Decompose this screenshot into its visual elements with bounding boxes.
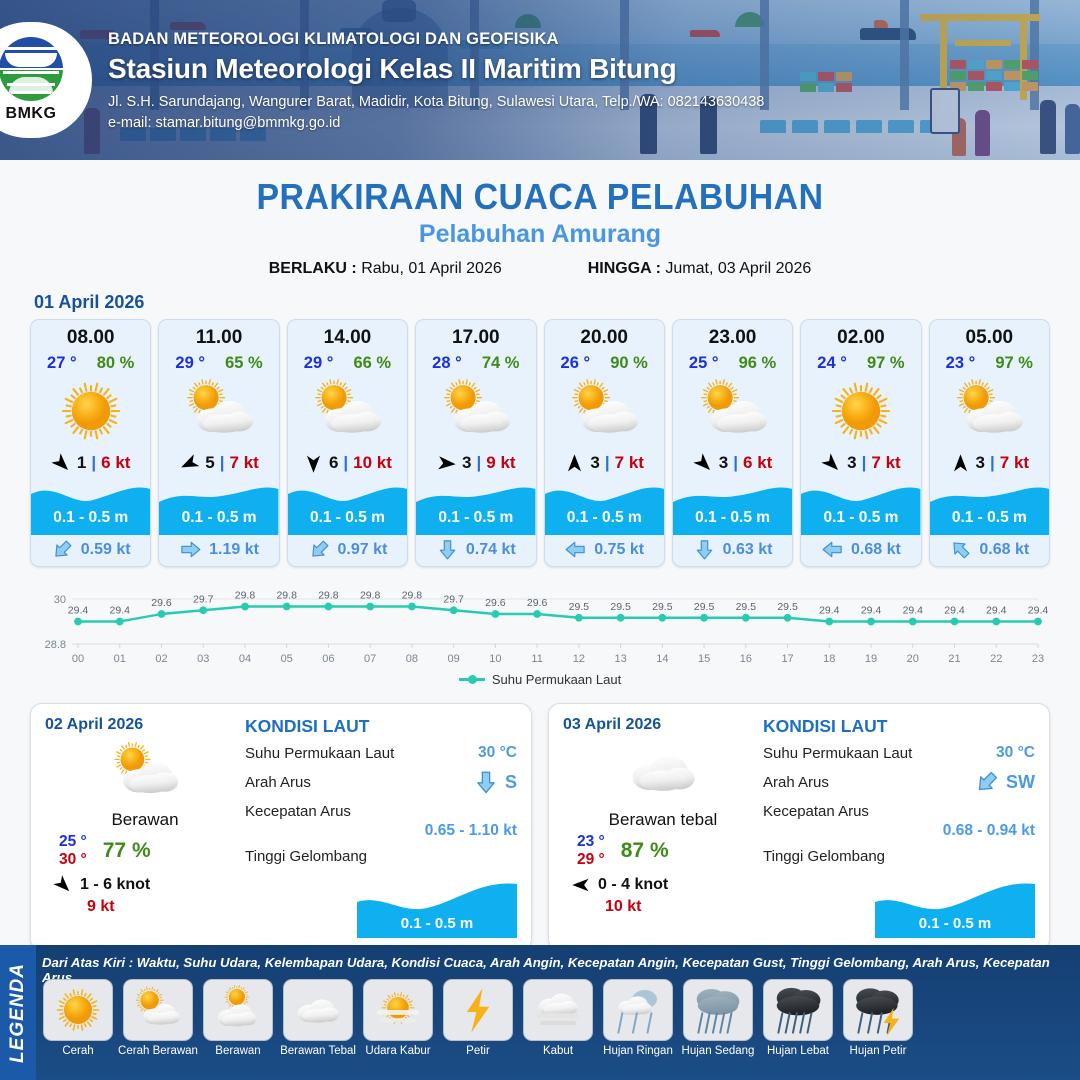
card-weather-icon xyxy=(416,373,535,449)
current-direction-label: Arah Arus xyxy=(245,774,311,791)
wave-height-label: Tinggi Gelombang xyxy=(245,848,517,865)
card-temperature: 28 ° xyxy=(432,354,462,373)
legend-item: Hujan Ringan xyxy=(600,979,676,1057)
card-current-speed: 0.68 kt xyxy=(851,541,901,559)
card-temp-humidity-row: 26 ° 90 % xyxy=(545,354,664,373)
card-temp-humidity-row: 23 ° 97 % xyxy=(930,354,1049,373)
card-wind-speed: 6 xyxy=(329,453,338,473)
wind-direction-arrow-icon xyxy=(950,453,971,474)
card-temp-humidity-row: 27 ° 80 % xyxy=(31,354,150,373)
legend-item-label: Hujan Sedang xyxy=(682,1045,755,1057)
svg-text:29.4: 29.4 xyxy=(944,605,965,617)
card-weather-icon xyxy=(673,373,792,449)
daily-wind-range: 1 - 6 knot xyxy=(80,876,150,894)
svg-text:18: 18 xyxy=(823,653,835,665)
card-time: 05.00 xyxy=(930,327,1049,349)
card-separator: | xyxy=(477,453,482,473)
sst-value: 30 °C xyxy=(996,744,1035,762)
daily-panel: 03 April 2026 Berawan tebal 23 ° 29 ° 87… xyxy=(548,703,1050,951)
card-gust-speed: 6 kt xyxy=(101,453,130,473)
hingga-group: HINGGA : Jumat, 03 April 2026 xyxy=(588,260,812,278)
card-current-speed: 1.19 kt xyxy=(209,541,259,559)
svg-text:29.5: 29.5 xyxy=(777,601,798,613)
daily-date: 03 April 2026 xyxy=(563,716,763,734)
daily-temp-row: 23 ° 29 ° 87 % xyxy=(563,833,763,869)
current-direction-arrow-icon xyxy=(436,538,459,561)
card-temp-humidity-row: 29 ° 65 % xyxy=(159,354,278,373)
card-wind-row: 1 | 6 kt xyxy=(31,449,150,478)
svg-text:29.7: 29.7 xyxy=(443,593,464,605)
card-separator: | xyxy=(862,453,867,473)
svg-text:29.8: 29.8 xyxy=(318,590,339,602)
sst-label: Suhu Permukaan Laut xyxy=(763,745,912,762)
card-gust-speed: 7 kt xyxy=(1000,453,1029,473)
svg-text:29.5: 29.5 xyxy=(694,601,715,613)
card-time: 23.00 xyxy=(673,327,792,349)
svg-text:29.5: 29.5 xyxy=(610,601,631,613)
legend-icon-box xyxy=(283,979,353,1041)
daily-panel-left: 03 April 2026 Berawan tebal 23 ° 29 ° 87… xyxy=(563,716,763,938)
current-direction-label: Arah Arus xyxy=(763,774,829,791)
page-header: BMKG BADAN METEOROLOGI KLIMATOLOGI DAN G… xyxy=(0,0,1080,160)
daily-temp-min: 23 ° xyxy=(577,833,605,851)
card-separator: | xyxy=(220,453,225,473)
daily-wind-row: 1 - 6 knot xyxy=(45,875,245,895)
card-temperature: 26 ° xyxy=(561,354,591,373)
card-temperature: 29 ° xyxy=(175,354,205,373)
card-current-row: 0.59 kt xyxy=(31,533,150,566)
svg-text:29.6: 29.6 xyxy=(151,597,172,609)
card-current-row: 0.68 kt xyxy=(930,533,1049,566)
card-current-row: 0.68 kt xyxy=(801,533,920,566)
card-temp-humidity-row: 25 ° 96 % xyxy=(673,354,792,373)
card-gust-speed: 6 kt xyxy=(743,453,772,473)
hourly-card: 14.00 29 ° 66 % 6 | 10 kt xyxy=(287,319,408,567)
card-time: 17.00 xyxy=(416,327,535,349)
wind-direction-arrow-icon xyxy=(436,453,457,474)
daily-humidity: 87 % xyxy=(621,839,669,863)
card-wave-height: 0.1 - 0.5 m xyxy=(930,509,1049,527)
card-wave-height: 0.1 - 0.5 m xyxy=(545,509,664,527)
sea-conditions-title: KONDISI LAUT xyxy=(245,716,517,737)
svg-text:03: 03 xyxy=(197,653,209,665)
legend-item-label: Berawan xyxy=(215,1045,260,1057)
svg-text:10: 10 xyxy=(489,653,501,665)
svg-text:29.4: 29.4 xyxy=(819,605,840,617)
hourly-forecast-cards: 08.00 27 ° 80 % 1 | 6 kt 0.1 xyxy=(0,319,1080,567)
svg-text:07: 07 xyxy=(364,653,376,665)
legend-icon-box xyxy=(683,979,753,1041)
legend-side-label: LEGENDA xyxy=(7,963,29,1063)
svg-text:01: 01 xyxy=(114,653,126,665)
svg-text:14: 14 xyxy=(656,653,668,665)
sst-row: Suhu Permukaan Laut 30 °C xyxy=(245,744,517,762)
card-current-row: 0.97 kt xyxy=(288,533,407,566)
legend-item: Hujan Lebat xyxy=(760,979,836,1057)
daily-gust: 9 kt xyxy=(45,898,245,916)
legend-item-label: Hujan Ringan xyxy=(603,1045,673,1057)
card-gust-speed: 7 kt xyxy=(615,453,644,473)
card-humidity: 97 % xyxy=(995,354,1033,373)
daily-date: 02 April 2026 xyxy=(45,716,245,734)
svg-text:17: 17 xyxy=(781,653,793,665)
card-time: 02.00 xyxy=(801,327,920,349)
card-wave-height: 0.1 - 0.5 m xyxy=(801,509,920,527)
daily-weather-icon xyxy=(563,736,763,808)
card-time: 11.00 xyxy=(159,327,278,349)
card-wave-block: 0.1 - 0.5 m xyxy=(545,480,664,533)
hourly-card: 17.00 28 ° 74 % 3 | 9 kt xyxy=(415,319,536,567)
legend-item: Berawan Tebal xyxy=(280,979,356,1057)
card-temperature: 24 ° xyxy=(817,354,847,373)
legend-icon-box xyxy=(843,979,913,1041)
card-temperature: 25 ° xyxy=(689,354,719,373)
card-humidity: 74 % xyxy=(482,354,520,373)
current-direction-arrow-icon xyxy=(308,538,331,561)
svg-text:28.8: 28.8 xyxy=(45,639,66,651)
card-current-row: 0.74 kt xyxy=(416,533,535,566)
svg-text:29.4: 29.4 xyxy=(986,605,1007,617)
legend-item-label: Cerah xyxy=(62,1045,93,1057)
card-current-speed: 0.68 kt xyxy=(979,541,1029,559)
svg-text:20: 20 xyxy=(907,653,919,665)
current-direction-arrow-icon xyxy=(974,769,1000,795)
svg-text:29.8: 29.8 xyxy=(360,590,381,602)
current-speed-value: 0.68 - 0.94 kt xyxy=(763,822,1035,840)
svg-text:29.8: 29.8 xyxy=(276,590,297,602)
card-current-speed: 0.59 kt xyxy=(81,541,131,559)
daily-condition: Berawan tebal xyxy=(563,810,763,830)
card-wave-block: 0.1 - 0.5 m xyxy=(159,480,278,533)
svg-text:29.5: 29.5 xyxy=(652,601,673,613)
current-speed-label: Kecepatan Arus xyxy=(763,803,1035,820)
svg-text:15: 15 xyxy=(698,653,710,665)
card-wave-block: 0.1 - 0.5 m xyxy=(416,480,535,533)
daily-forecast-panels: 02 April 2026 Berawan 25 ° 30 ° 77 % xyxy=(0,703,1080,951)
hourly-card: 11.00 29 ° 65 % 5 | 7 kt xyxy=(158,319,279,567)
legend-icon-box xyxy=(763,979,833,1041)
daily-temp-max: 29 ° xyxy=(577,851,605,869)
legend-item-label: Udara Kabur xyxy=(365,1045,430,1057)
legend-item-label: Cerah Berawan xyxy=(118,1045,198,1057)
card-temp-humidity-row: 29 ° 66 % xyxy=(288,354,407,373)
svg-text:29.5: 29.5 xyxy=(736,601,757,613)
card-temp-humidity-row: 24 ° 97 % xyxy=(801,354,920,373)
legend-icon-box xyxy=(43,979,113,1041)
card-current-row: 0.75 kt xyxy=(545,533,664,566)
hourly-card: 08.00 27 ° 80 % 1 | 6 kt 0.1 xyxy=(30,319,151,567)
svg-text:05: 05 xyxy=(281,653,293,665)
hingga-label: HINGGA : xyxy=(588,260,661,277)
card-wind-row: 3 | 9 kt xyxy=(416,449,535,478)
legend-item: Hujan Sedang xyxy=(680,979,756,1057)
legend-item-label: Hujan Petir xyxy=(850,1045,907,1057)
daily-temp-row: 25 ° 30 ° 77 % xyxy=(45,833,245,869)
card-wind-speed: 1 xyxy=(77,453,86,473)
wind-direction-arrow-icon xyxy=(821,453,842,474)
current-direction-arrow-icon xyxy=(821,538,844,561)
sst-label: Suhu Permukaan Laut xyxy=(245,745,394,762)
card-current-row: 1.19 kt xyxy=(159,533,278,566)
hourly-card: 20.00 26 ° 90 % 3 | 7 kt xyxy=(544,319,665,567)
legend-item: Petir xyxy=(440,979,516,1057)
hourly-date-label: 01 April 2026 xyxy=(34,292,1080,313)
daily-panel-left: 02 April 2026 Berawan 25 ° 30 ° 77 % xyxy=(45,716,245,938)
current-speed-row: Kecepatan Arus 0.65 - 1.10 kt xyxy=(245,803,517,840)
card-wind-speed: 3 xyxy=(976,453,985,473)
legend-icon-box xyxy=(363,979,433,1041)
legend-icon-box xyxy=(203,979,273,1041)
card-temp-humidity-row: 28 ° 74 % xyxy=(416,354,535,373)
card-wave-height: 0.1 - 0.5 m xyxy=(673,509,792,527)
daily-panel-right: KONDISI LAUT Suhu Permukaan Laut 30 °C A… xyxy=(245,716,517,938)
legend-item-label: Kabut xyxy=(543,1045,573,1057)
legend-label: Suhu Permukaan Laut xyxy=(492,672,621,687)
svg-text:12: 12 xyxy=(573,653,585,665)
validity-row: BERLAKU : Rabu, 01 April 2026 HINGGA : J… xyxy=(0,260,1080,278)
wind-direction-arrow-icon xyxy=(179,453,200,474)
card-separator: | xyxy=(605,453,610,473)
card-time: 08.00 xyxy=(31,327,150,349)
card-wave-block: 0.1 - 0.5 m xyxy=(930,480,1049,533)
agency-name: BADAN METEOROLOGI KLIMATOLOGI DAN GEOFIS… xyxy=(108,30,764,49)
card-wind-speed: 3 xyxy=(847,453,856,473)
svg-text:08: 08 xyxy=(406,653,418,665)
current-direction-arrow-icon xyxy=(473,769,499,795)
legend-item: Kabut xyxy=(520,979,596,1057)
card-gust-speed: 10 kt xyxy=(353,453,392,473)
svg-text:06: 06 xyxy=(322,653,334,665)
svg-text:22: 22 xyxy=(990,653,1002,665)
svg-text:29.4: 29.4 xyxy=(861,605,882,617)
daily-gust: 10 kt xyxy=(563,898,763,916)
sst-value: 30 °C xyxy=(478,744,517,762)
wind-direction-arrow-icon xyxy=(693,453,714,474)
bmkg-logo-disc xyxy=(0,37,63,101)
berlaku-value: Rabu, 01 April 2026 xyxy=(361,260,502,277)
legend-item-label: Petir xyxy=(466,1045,490,1057)
card-current-speed: 0.63 kt xyxy=(723,541,773,559)
current-direction-value-group: SW xyxy=(974,769,1035,795)
current-direction-row: Arah Arus SW xyxy=(763,769,1035,795)
legend-item: Udara Kabur xyxy=(360,979,436,1057)
card-wave-block: 0.1 - 0.5 m xyxy=(288,480,407,533)
svg-text:29.6: 29.6 xyxy=(485,597,506,609)
wind-direction-arrow-icon xyxy=(51,453,72,474)
card-separator: | xyxy=(733,453,738,473)
sst-chart: 3028.80001020304050607080910111213141516… xyxy=(30,575,1050,695)
daily-wind-row: 0 - 4 knot xyxy=(563,875,763,895)
card-wind-speed: 3 xyxy=(719,453,728,473)
card-weather-icon xyxy=(288,373,407,449)
card-humidity: 80 % xyxy=(97,354,135,373)
card-time: 20.00 xyxy=(545,327,664,349)
legend-icon-box xyxy=(523,979,593,1041)
svg-text:29.6: 29.6 xyxy=(527,597,548,609)
page-subtitle: Pelabuhan Amurang xyxy=(0,220,1080,249)
berlaku-label: BERLAKU : xyxy=(269,260,357,277)
page-title: PRAKIRAAN CUACA PELABUHAN xyxy=(32,176,1047,218)
wind-direction-arrow-icon xyxy=(53,875,73,895)
card-humidity: 96 % xyxy=(739,354,777,373)
bmkg-logo-text: BMKG xyxy=(0,105,67,123)
current-speed-row: Kecepatan Arus 0.68 - 0.94 kt xyxy=(763,803,1035,840)
card-wave-height: 0.1 - 0.5 m xyxy=(159,509,278,527)
svg-text:29.8: 29.8 xyxy=(235,590,256,602)
legend-line-swatch xyxy=(459,678,485,681)
daily-weather-icon xyxy=(45,736,245,808)
legend-footer: LEGENDA Dari Atas Kiri : Waktu, Suhu Uda… xyxy=(0,945,1080,1080)
daily-wave-block: 0.1 - 0.5 m xyxy=(357,880,517,938)
hourly-card: 05.00 23 ° 97 % 3 | 7 kt xyxy=(929,319,1050,567)
card-wave-block: 0.1 - 0.5 m xyxy=(673,480,792,533)
card-gust-speed: 9 kt xyxy=(486,453,515,473)
legend-item: Hujan Petir xyxy=(840,979,916,1057)
current-direction-arrow-icon xyxy=(693,538,716,561)
legend-item: Cerah Berawan xyxy=(120,979,196,1057)
svg-text:29.4: 29.4 xyxy=(110,605,131,617)
wind-direction-arrow-icon xyxy=(303,453,324,474)
wave-height-label: Tinggi Gelombang xyxy=(763,848,1035,865)
card-weather-icon xyxy=(930,373,1049,449)
daily-wave-height: 0.1 - 0.5 m xyxy=(875,915,1035,932)
card-current-speed: 0.97 kt xyxy=(338,541,388,559)
card-temperature: 23 ° xyxy=(946,354,976,373)
daily-wave-block: 0.1 - 0.5 m xyxy=(875,880,1035,938)
card-wind-speed: 3 xyxy=(590,453,599,473)
svg-text:29.4: 29.4 xyxy=(903,605,924,617)
wind-direction-arrow-icon xyxy=(571,875,591,895)
daily-condition: Berawan xyxy=(45,810,245,830)
card-separator: | xyxy=(91,453,96,473)
station-name: Stasiun Meteorologi Kelas II Maritim Bit… xyxy=(108,53,764,85)
current-direction-arrow-icon xyxy=(949,538,972,561)
card-humidity: 66 % xyxy=(353,354,391,373)
svg-text:29.4: 29.4 xyxy=(68,605,89,617)
svg-text:11: 11 xyxy=(531,653,542,665)
card-humidity: 65 % xyxy=(225,354,263,373)
daily-panel: 02 April 2026 Berawan 25 ° 30 ° 77 % xyxy=(30,703,532,951)
card-humidity: 97 % xyxy=(867,354,905,373)
sst-chart-svg: 3028.80001020304050607080910111213141516… xyxy=(30,575,1050,670)
hourly-card: 23.00 25 ° 96 % 3 | 6 kt xyxy=(672,319,793,567)
legend-item-list: Cerah Cerah Berawan Be xyxy=(40,979,1076,1057)
svg-text:04: 04 xyxy=(239,653,251,665)
daily-panel-right: KONDISI LAUT Suhu Permukaan Laut 30 °C A… xyxy=(763,716,1035,938)
svg-text:09: 09 xyxy=(448,653,460,665)
svg-text:21: 21 xyxy=(948,653,960,665)
card-wind-row: 6 | 10 kt xyxy=(288,449,407,478)
card-wave-block: 0.1 - 0.5 m xyxy=(31,480,150,533)
svg-text:16: 16 xyxy=(740,653,752,665)
legend-item: Cerah xyxy=(40,979,116,1057)
legend-item: Berawan xyxy=(200,979,276,1057)
svg-text:19: 19 xyxy=(865,653,877,665)
daily-humidity: 77 % xyxy=(103,839,151,863)
card-wave-height: 0.1 - 0.5 m xyxy=(416,509,535,527)
daily-wave-height: 0.1 - 0.5 m xyxy=(357,915,517,932)
daily-temp-col: 23 ° 29 ° xyxy=(577,833,605,869)
svg-text:02: 02 xyxy=(155,653,167,665)
svg-text:30: 30 xyxy=(54,594,66,606)
card-humidity: 90 % xyxy=(610,354,648,373)
chart-legend: Suhu Permukaan Laut xyxy=(30,672,1050,687)
berlaku-group: BERLAKU : Rabu, 01 April 2026 xyxy=(269,260,502,278)
legend-icon-box xyxy=(603,979,673,1041)
hourly-card: 02.00 24 ° 97 % 3 | 7 kt 0.1 xyxy=(800,319,921,567)
current-speed-label: Kecepatan Arus xyxy=(245,803,517,820)
card-wave-height: 0.1 - 0.5 m xyxy=(288,509,407,527)
station-address: Jl. S.H. Sarundajang, Wangurer Barat, Ma… xyxy=(108,94,764,110)
card-current-row: 0.63 kt xyxy=(673,533,792,566)
card-separator: | xyxy=(990,453,995,473)
card-wave-height: 0.1 - 0.5 m xyxy=(31,509,150,527)
svg-text:29.4: 29.4 xyxy=(1028,605,1049,617)
legend-side-banner: LEGENDA xyxy=(0,945,36,1080)
sst-row: Suhu Permukaan Laut 30 °C xyxy=(763,744,1035,762)
card-gust-speed: 7 kt xyxy=(871,453,900,473)
current-direction-value: S xyxy=(505,772,517,793)
current-direction-arrow-icon xyxy=(564,538,587,561)
svg-text:00: 00 xyxy=(72,653,84,665)
svg-text:13: 13 xyxy=(614,653,626,665)
daily-temp-min: 25 ° xyxy=(59,833,87,851)
legend-icon-box xyxy=(123,979,193,1041)
card-wind-speed: 5 xyxy=(205,453,214,473)
legend-item-label: Berawan Tebal xyxy=(280,1045,356,1057)
legend-icon-box xyxy=(443,979,513,1041)
card-wave-block: 0.1 - 0.5 m xyxy=(801,480,920,533)
card-weather-icon xyxy=(801,373,920,449)
current-direction-value-group: S xyxy=(473,769,517,795)
hingga-value: Jumat, 03 April 2026 xyxy=(665,260,811,277)
card-time: 14.00 xyxy=(288,327,407,349)
card-separator: | xyxy=(343,453,348,473)
bmkg-logo-wave xyxy=(5,53,57,67)
card-wind-row: 5 | 7 kt xyxy=(159,449,278,478)
daily-temp-col: 25 ° 30 ° xyxy=(59,833,87,869)
current-direction-value: SW xyxy=(1006,772,1035,793)
card-wind-speed: 3 xyxy=(462,453,471,473)
current-speed-value: 0.65 - 1.10 kt xyxy=(245,822,517,840)
card-gust-speed: 7 kt xyxy=(230,453,259,473)
card-current-speed: 0.75 kt xyxy=(594,541,644,559)
sea-conditions-title: KONDISI LAUT xyxy=(763,716,1035,737)
card-wind-row: 3 | 7 kt xyxy=(545,449,664,478)
current-direction-arrow-icon xyxy=(179,538,202,561)
card-current-speed: 0.74 kt xyxy=(466,541,516,559)
card-weather-icon xyxy=(159,373,278,449)
svg-text:29.8: 29.8 xyxy=(402,590,423,602)
card-wind-row: 3 | 7 kt xyxy=(930,449,1049,478)
svg-text:29.7: 29.7 xyxy=(193,593,214,605)
svg-text:29.5: 29.5 xyxy=(569,601,590,613)
daily-temp-max: 30 ° xyxy=(59,851,87,869)
card-wind-row: 3 | 6 kt xyxy=(673,449,792,478)
card-weather-icon xyxy=(31,373,150,449)
station-email: e-mail: stamar.bitung@bmmkg.go.id xyxy=(108,115,764,131)
wind-direction-arrow-icon xyxy=(564,453,585,474)
current-direction-row: Arah Arus S xyxy=(245,769,517,795)
svg-text:23: 23 xyxy=(1032,653,1044,665)
card-wind-row: 3 | 7 kt xyxy=(801,449,920,478)
card-temperature: 27 ° xyxy=(47,354,77,373)
current-direction-arrow-icon xyxy=(51,538,74,561)
legend-item-label: Hujan Lebat xyxy=(767,1045,829,1057)
card-temperature: 29 ° xyxy=(304,354,334,373)
daily-wind-range: 0 - 4 knot xyxy=(598,876,668,894)
card-weather-icon xyxy=(545,373,664,449)
